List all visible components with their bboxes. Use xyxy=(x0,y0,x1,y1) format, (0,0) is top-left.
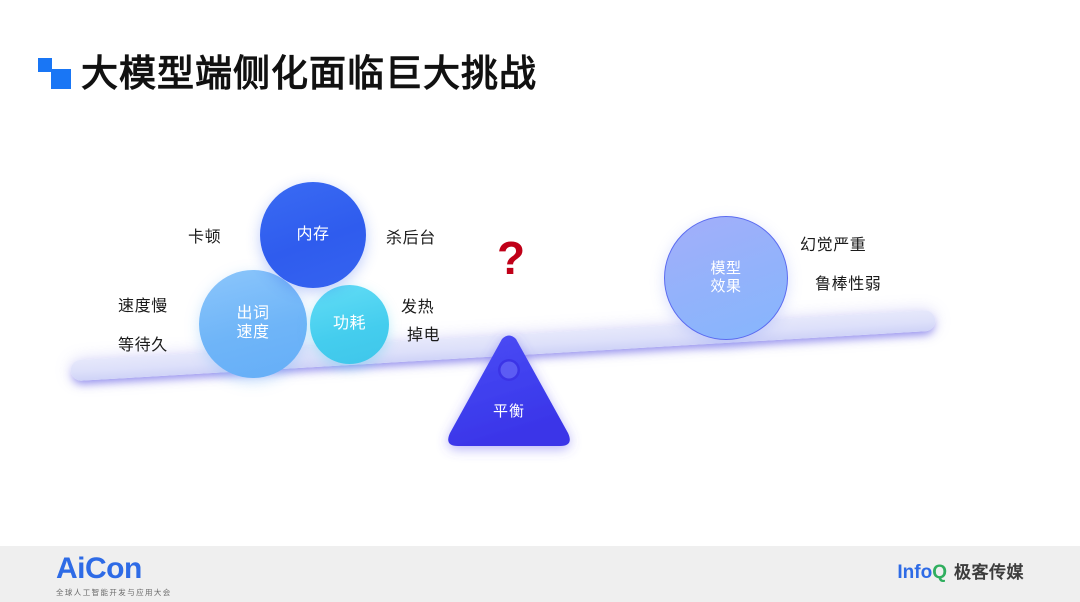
bubble-output-speed: 出词 速度 xyxy=(199,270,307,378)
footer-bar: AiCon 全球人工智能开发与应用大会 InfoQ 极客传媒 xyxy=(0,546,1080,602)
bubble-output-speed-label: 出词 速度 xyxy=(236,305,269,343)
bubble-model-effect-label: 模型 效果 xyxy=(710,260,741,295)
bubble-memory: 内存 xyxy=(260,182,366,288)
infoq-logo-text: InfoQ xyxy=(897,563,947,582)
infoq-logo-info: Info xyxy=(897,562,932,583)
infoq-logo: InfoQ 极客传媒 xyxy=(897,563,1024,582)
balance-scale-diagram: 平衡 ? 出词 速度 功耗 内存 模型 效果 卡顿 杀后台 速度慢 等待久 xyxy=(0,0,1080,540)
infoq-logo-q: Q xyxy=(932,562,947,583)
label-long-wait: 等待久 xyxy=(118,331,168,355)
label-weak-robustness: 鲁棒性弱 xyxy=(815,270,881,294)
bubble-power-consumption: 功耗 xyxy=(310,285,389,364)
slide-canvas: 大模型端侧化面临巨大挑战 xyxy=(0,0,1080,602)
label-slow-speed: 速度慢 xyxy=(118,292,168,316)
label-kill-background: 杀后台 xyxy=(386,224,436,248)
label-battery-drain: 掉电 xyxy=(407,321,440,345)
bubble-memory-label: 内存 xyxy=(296,226,329,245)
aicon-logo: AiCon 全球人工智能开发与应用大会 xyxy=(56,554,172,598)
label-heat: 发热 xyxy=(401,293,434,317)
aicon-logo-text: AiCon xyxy=(56,554,172,584)
fulcrum: 平衡 xyxy=(444,330,574,452)
aicon-logo-subtitle: 全球人工智能开发与应用大会 xyxy=(56,587,172,598)
question-mark-icon: ? xyxy=(497,235,525,281)
aicon-logo-word: AiCon xyxy=(56,552,142,585)
label-hallucination: 幻觉严重 xyxy=(800,231,866,255)
label-lag: 卡顿 xyxy=(188,223,221,247)
infoq-logo-cn: 极客传媒 xyxy=(954,564,1024,581)
bubble-power-consumption-label: 功耗 xyxy=(333,315,366,334)
bubble-model-effect: 模型 效果 xyxy=(664,216,788,340)
